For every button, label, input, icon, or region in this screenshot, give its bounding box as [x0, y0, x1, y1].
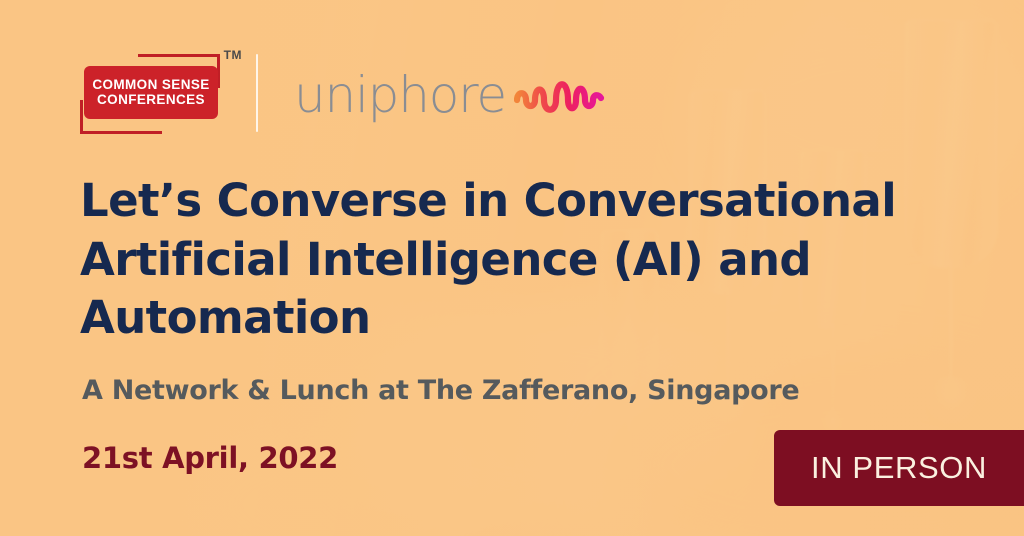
headline-line: Artificial Intelligence (AI) and — [80, 231, 980, 290]
headline-line: Let’s Converse in Conversational — [80, 172, 980, 231]
event-date: 21st April, 2022 — [82, 441, 338, 475]
logo-divider — [256, 54, 258, 132]
trademark-symbol: TM — [224, 48, 242, 62]
uniphore-waveform-icon — [514, 73, 606, 117]
common-sense-logo-line-2: CONFERENCES — [97, 93, 205, 107]
headline-line: Automation — [80, 289, 980, 348]
event-banner: TM COMMON SENSE CONFERENCES uniphore — [0, 0, 1024, 536]
event-subtitle: A Network & Lunch at The Zafferano, Sing… — [82, 375, 799, 406]
uniphore-logo[interactable]: uniphore — [294, 70, 606, 120]
status-badge: IN PERSON — [774, 430, 1024, 506]
uniphore-wordmark: uniphore — [294, 70, 506, 120]
page-title: Let’s Converse in Conversational Artific… — [80, 172, 980, 348]
banner-content: TM COMMON SENSE CONFERENCES uniphore — [0, 0, 1024, 536]
common-sense-logo-box: COMMON SENSE CONFERENCES — [84, 66, 218, 119]
status-badge-label: IN PERSON — [811, 450, 987, 486]
common-sense-conferences-logo[interactable]: TM COMMON SENSE CONFERENCES — [80, 48, 242, 138]
common-sense-logo-line-1: COMMON SENSE — [92, 78, 209, 92]
logo-row: TM COMMON SENSE CONFERENCES uniphore — [80, 48, 606, 138]
